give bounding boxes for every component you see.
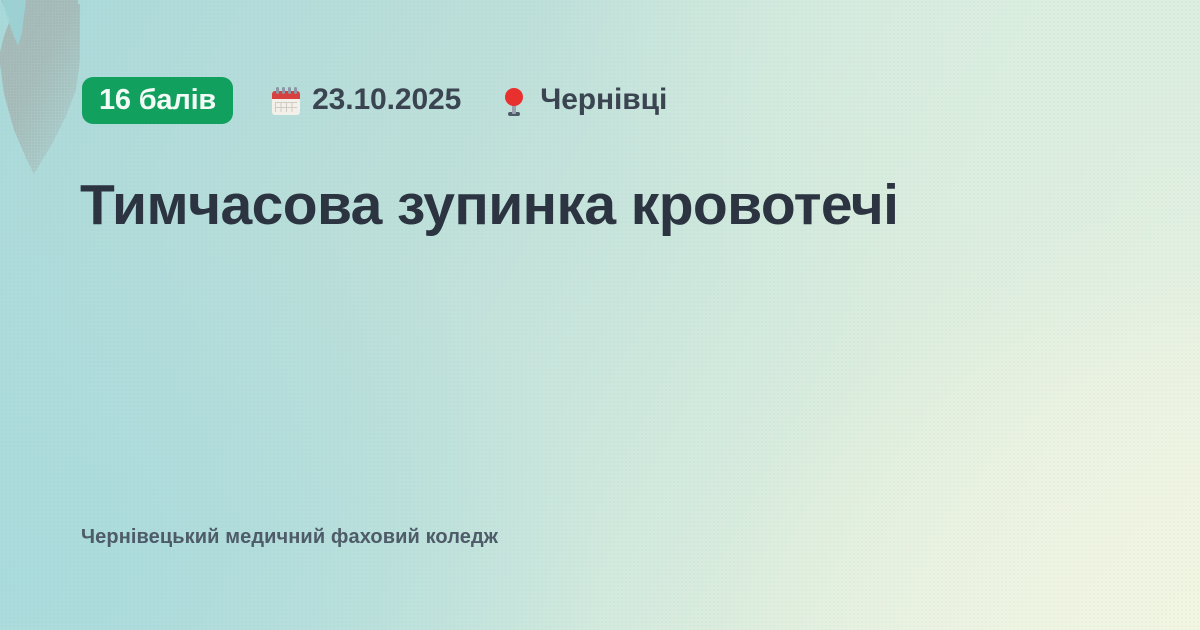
- event-location: Чернівці: [499, 85, 667, 117]
- event-date-text: 23.10.2025: [312, 85, 461, 117]
- event-location-text: Чернівці: [540, 85, 667, 117]
- calendar-icon: [271, 86, 301, 116]
- location-pin-icon: [499, 86, 529, 116]
- event-card: 16 балів 23.10.2025: [0, 0, 1200, 630]
- meta-row: 16 балів 23.10.2025: [82, 77, 667, 124]
- card-content: 16 балів 23.10.2025: [0, 0, 1200, 630]
- page-title: Тимчасова зупинка кровотечі: [80, 172, 1100, 238]
- event-date: 23.10.2025: [271, 85, 461, 117]
- organization-name: Чернівецький медичний фаховий коледж: [81, 524, 498, 550]
- points-badge: 16 балів: [82, 77, 233, 124]
